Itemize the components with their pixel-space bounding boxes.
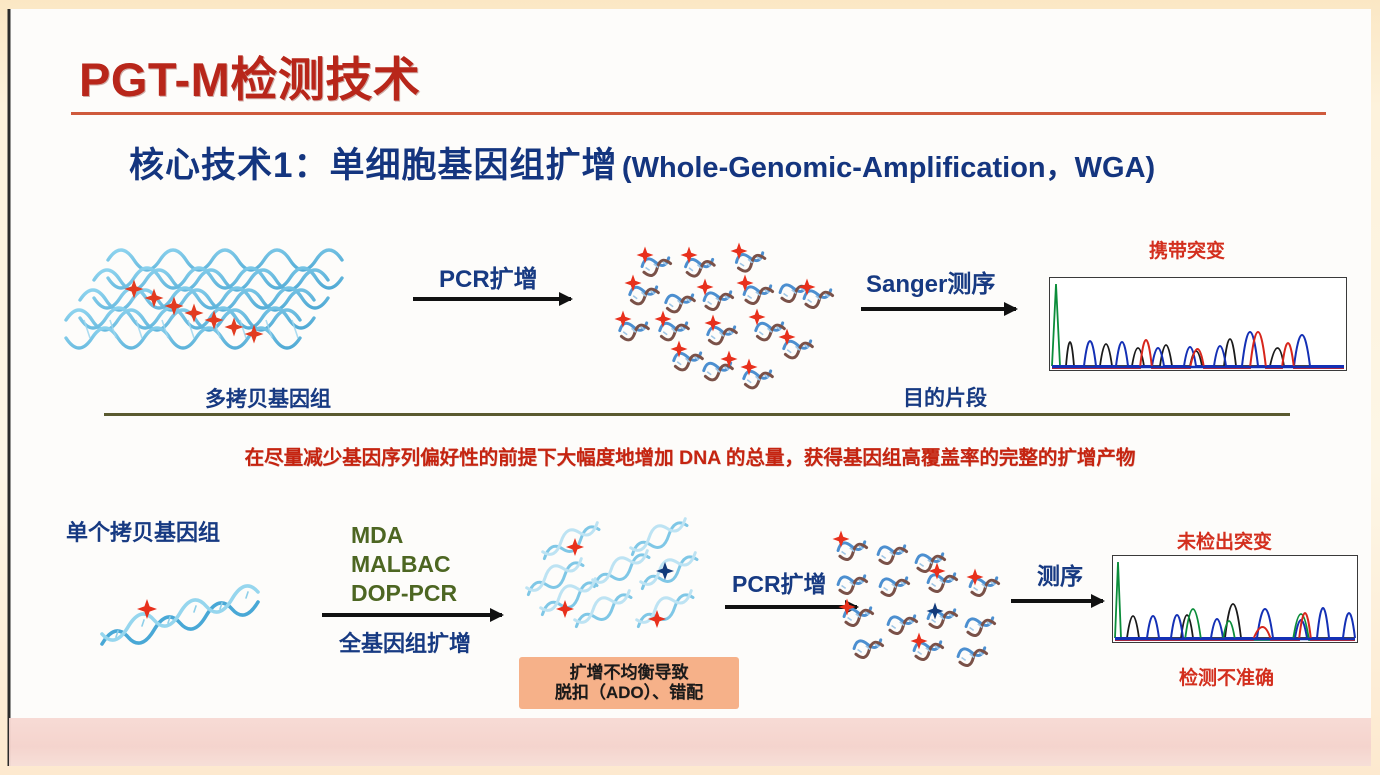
amplified-fragments-cluster-top <box>605 235 855 395</box>
page-title: PGT-M检测技术 <box>79 41 420 110</box>
single-copy-genome-label: 单个拷贝基因组 <box>66 515 220 547</box>
arrow-sequencing <box>1011 599 1103 603</box>
slide-root: PGT-M检测技术 核心技术1：单细胞基因组扩增 (Whole-Genomic-… <box>0 0 1380 775</box>
subtitle-en: (Whole-Genomic-Amplification，WGA) <box>622 152 1155 184</box>
bottom-decoration-band <box>9 718 1371 766</box>
wga-method-malbac: MALBAC <box>351 550 451 578</box>
sequencing-label: 测序 <box>1037 557 1083 591</box>
wga-method-dop-pcr: DOP-PCR <box>351 579 457 607</box>
ado-warning-box: 扩增不均衡导致 脱扣（ADO）、错配 <box>519 657 739 709</box>
pcr-amplification-label-top: PCR扩增 <box>439 259 538 294</box>
ado-warning-line1: 扩增不均衡导致 <box>570 663 689 683</box>
subtitle-cn: 核心技术1：单细胞基因组扩增 <box>129 146 617 185</box>
result-label-carrier: 携带突变 <box>1149 236 1225 263</box>
title-divider <box>71 112 1326 115</box>
wga-method-mda: MDA <box>351 521 403 549</box>
section-divider <box>104 413 1290 416</box>
subtitle: 核心技术1：单细胞基因组扩增 (Whole-Genomic-Amplificat… <box>129 137 1155 188</box>
ado-warning-line2: 脱扣（ADO）、错配 <box>555 683 703 703</box>
slide-canvas: PGT-M检测技术 核心技术1：单细胞基因组扩增 (Whole-Genomic-… <box>9 9 1371 766</box>
arrow-wga <box>322 613 502 617</box>
arrow-sanger <box>861 307 1016 311</box>
result-note-inaccurate: 检测不准确 <box>1179 663 1274 690</box>
result-label-no-mutation: 未检出突变 <box>1177 527 1272 554</box>
multi-copy-genome-label: 多拷贝基因组 <box>205 383 331 413</box>
multi-copy-genome-illustration <box>54 234 394 394</box>
pcr-amplification-label-bottom: PCR扩增 <box>732 565 827 599</box>
arrow-pcr-top <box>413 297 571 301</box>
single-copy-genome-illustration <box>94 564 304 654</box>
amplified-fragments-cluster-bottom <box>821 531 1011 671</box>
sanger-chromatogram-top <box>1049 277 1347 371</box>
key-statement: 在尽量减少基因序列偏好性的前提下大幅度地增加 DNA 的总量，获得基因组高覆盖率… <box>9 441 1371 470</box>
wga-arrow-label: 全基因组扩增 <box>339 626 471 658</box>
sanger-chromatogram-bottom <box>1112 555 1358 643</box>
target-fragment-label: 目的片段 <box>903 382 987 412</box>
uneven-amplification-cluster <box>517 537 707 649</box>
sanger-sequencing-label: Sanger测序 <box>866 264 995 299</box>
